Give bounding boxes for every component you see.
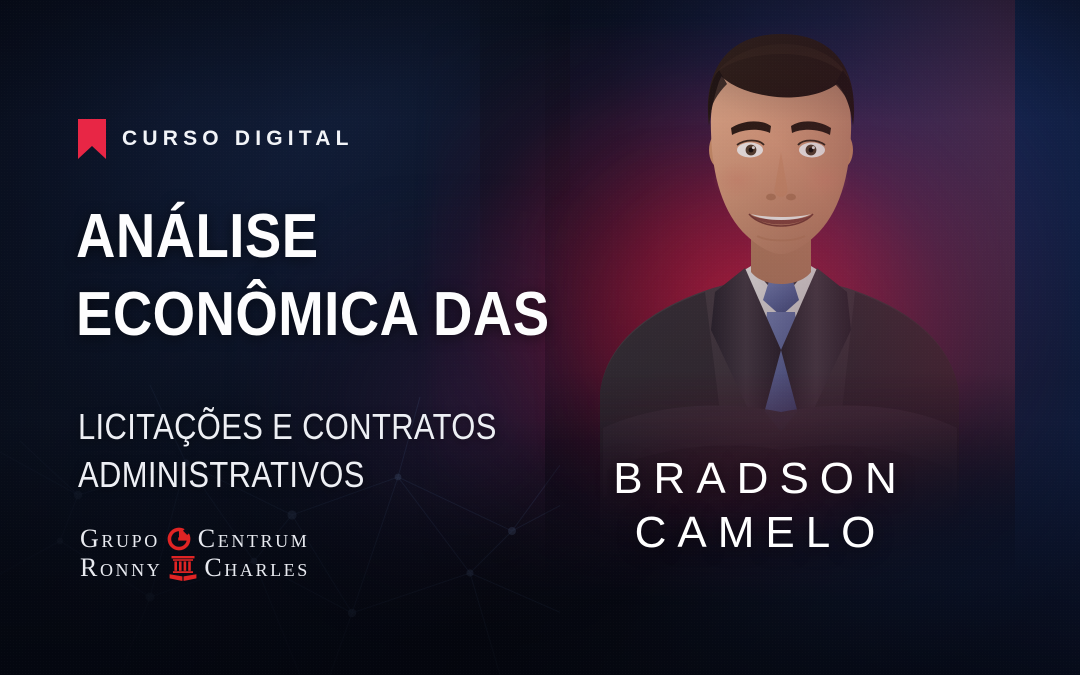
brand-word-centrum: Centrum (198, 526, 310, 552)
course-title-line-1: ANÁLISE (76, 205, 534, 269)
course-promo-banner: CURSO DIGITAL ANÁLISE ECONÔMICA DAS LICI… (0, 0, 1080, 675)
courthouse-columns-icon (168, 554, 198, 582)
brand-lockup: Grupo Centrum Ronny Charle (80, 524, 310, 582)
course-kicker-label: CURSO DIGITAL (122, 127, 354, 151)
course-kicker: CURSO DIGITAL (78, 119, 354, 159)
brand-word-charles: Charles (204, 555, 310, 581)
course-title: ANÁLISE ECONÔMICA DAS (76, 205, 596, 362)
bookmark-icon (78, 119, 106, 159)
brand-word-grupo: Grupo (80, 526, 160, 552)
course-title-line-2: ECONÔMICA DAS (76, 283, 534, 347)
brand-word-ronny: Ronny (80, 555, 162, 581)
circle-g-monogram-icon (166, 526, 192, 552)
speaker-name: BRADSON CAMELO (545, 452, 965, 559)
speaker-first-name: BRADSON (545, 452, 965, 506)
course-subtitle: LICITAÇÕES E CONTRATOS ADMINISTRATIVOS (78, 406, 598, 502)
speaker-last-name: CAMELO (545, 506, 965, 560)
course-subtitle-line-2: ADMINISTRATIVOS (78, 454, 525, 496)
brand-row-grupo-centrum: Grupo Centrum (80, 524, 310, 553)
course-subtitle-line-1: LICITAÇÕES E CONTRATOS (78, 406, 525, 448)
brand-row-ronny-charles: Ronny Charles (80, 553, 310, 582)
